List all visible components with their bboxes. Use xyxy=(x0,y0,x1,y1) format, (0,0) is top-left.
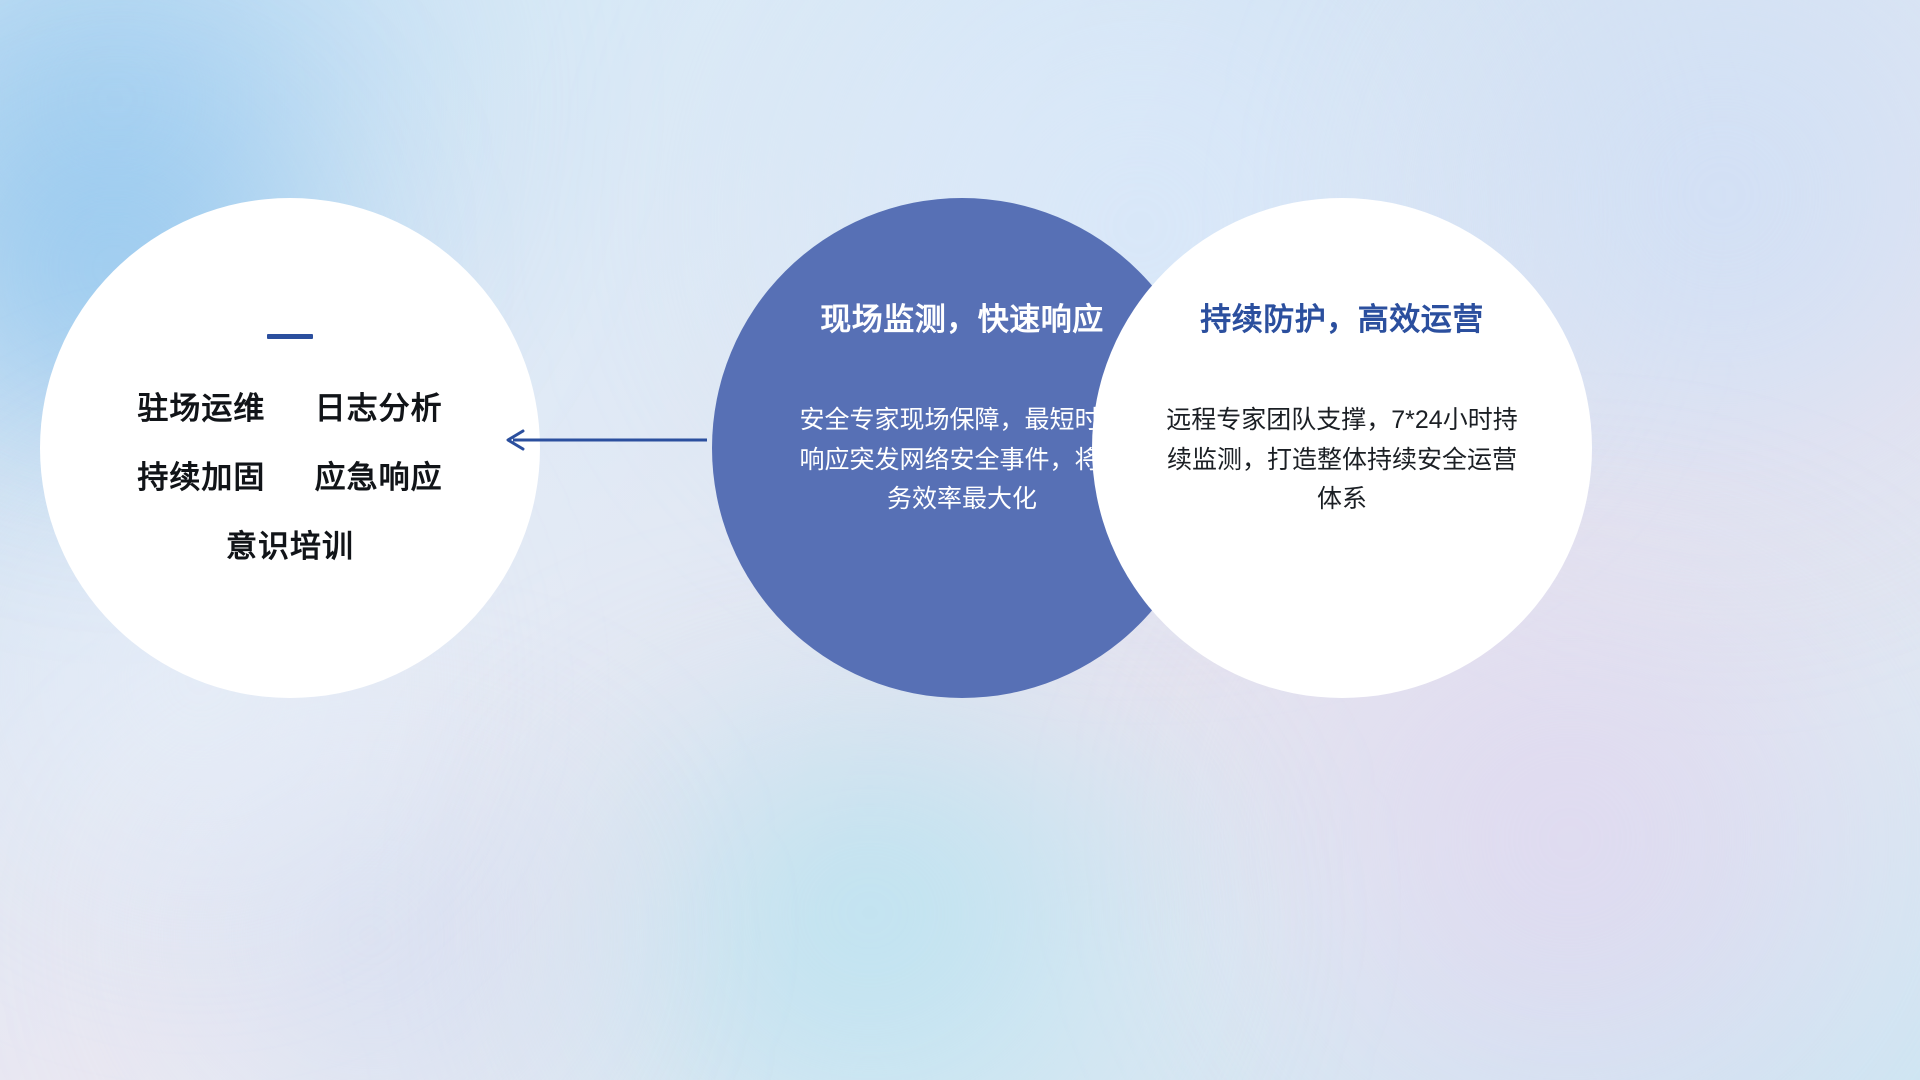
right-circle-content: 持续防护，高效运营 远程专家团队支撑，7*24小时持续监测，打造整体持续安全运营… xyxy=(1092,198,1592,698)
left-circle-divider xyxy=(267,334,313,339)
left-circle-line-3-a: 意识培训 xyxy=(226,529,354,564)
right-circle-body: 远程专家团队支撑，7*24小时持续监测，打造整体持续安全运营体系 xyxy=(1157,401,1527,520)
left-circle-line-2-a: 持续加固 xyxy=(137,460,265,495)
left-circle-line-3: 意识培训 xyxy=(226,531,354,562)
slide-canvas: 驻场运维 日志分析 持续加固 应急响应 意识培训 现场监测，快速响应 安全专家现… xyxy=(0,0,1920,1080)
mid-circle-title: 现场监测，快速响应 xyxy=(820,294,1104,339)
left-circle-line-1-a: 驻场运维 xyxy=(137,391,265,426)
left-circle-line-2-b: 应急响应 xyxy=(315,460,443,495)
left-circle-content: 驻场运维 日志分析 持续加固 应急响应 意识培训 xyxy=(40,198,540,698)
mid-circle-body: 安全专家现场保障，最短时间响应突发网络安全事件，将服务效率最大化 xyxy=(797,401,1127,520)
left-circle-line-2: 持续加固 应急响应 xyxy=(137,462,442,493)
left-circle-line-1-b: 日志分析 xyxy=(315,391,443,426)
right-circle-title: 持续防护，高效运营 xyxy=(1200,294,1484,339)
left-circle-line-1: 驻场运维 日志分析 xyxy=(137,393,442,424)
